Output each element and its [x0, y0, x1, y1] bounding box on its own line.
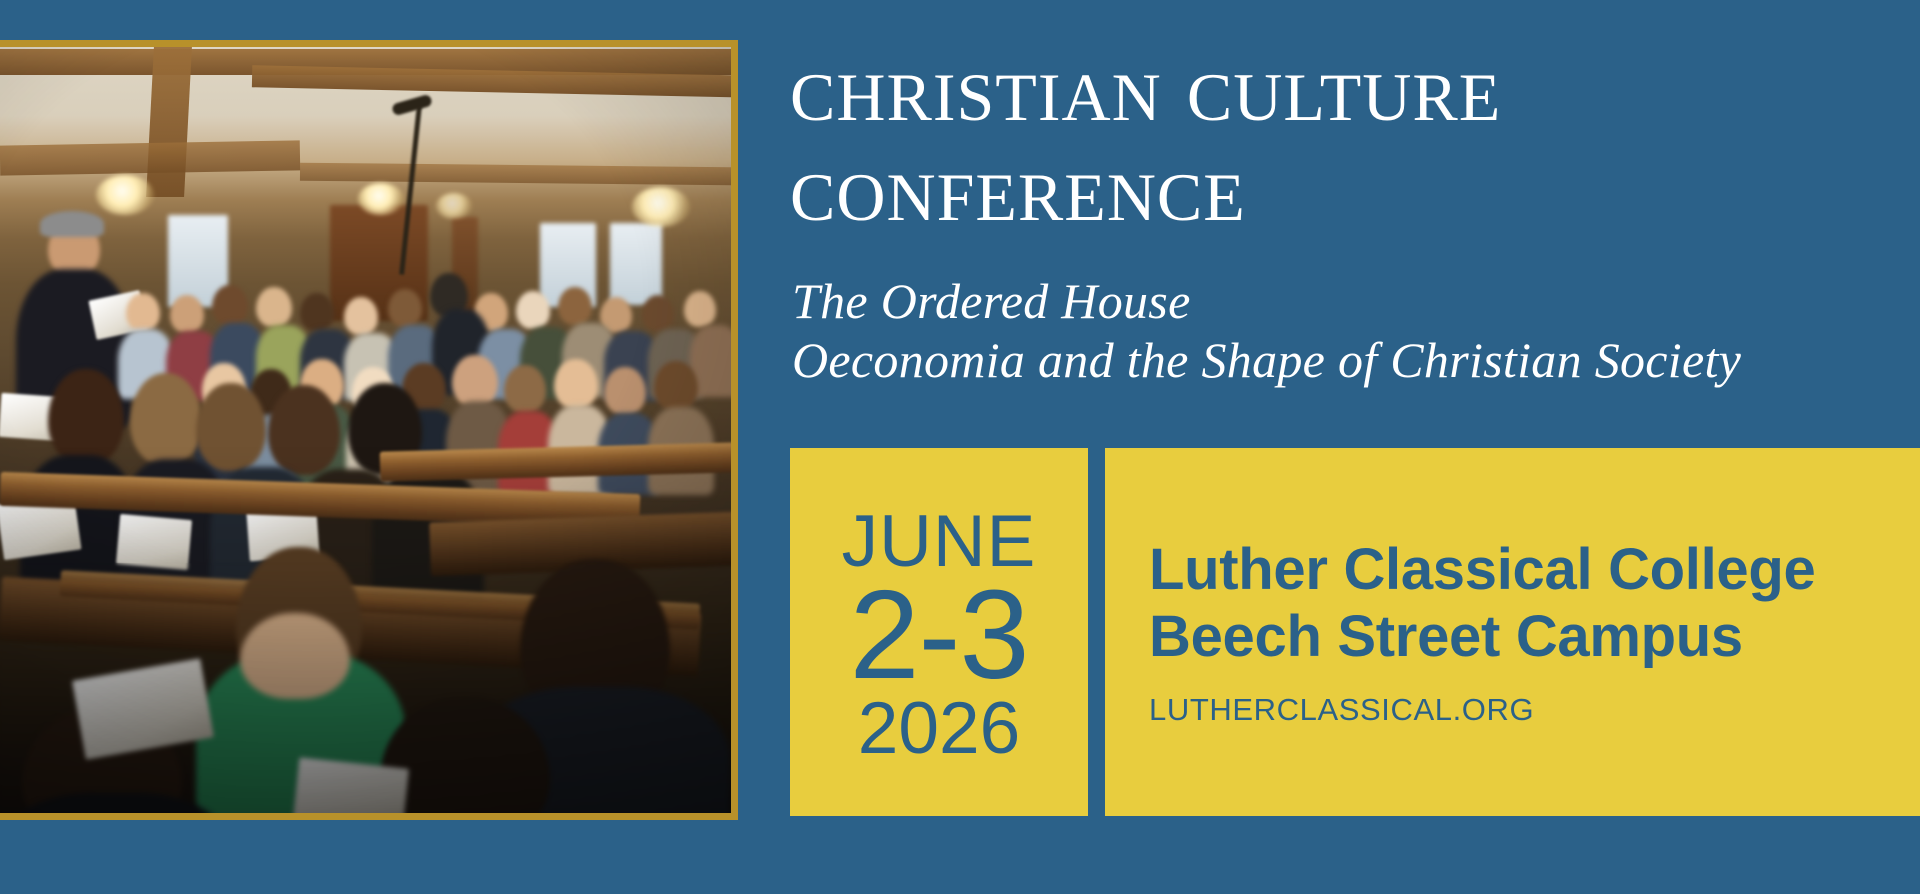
title-line-2: Conference	[790, 138, 1890, 238]
venue-name: Luther Classical College	[1149, 536, 1920, 603]
venue-campus: Beech Street Campus	[1149, 603, 1920, 670]
subtitle-line-1: The Ordered House	[792, 272, 1912, 331]
date-panel: JUNE 2-3 2026	[790, 448, 1088, 816]
info-panels: JUNE 2-3 2026 Luther Classical College B…	[790, 448, 1920, 816]
page-title: Christian Culture Conference	[790, 38, 1890, 238]
date-year: 2026	[858, 692, 1020, 765]
subtitle: The Ordered House Oeconomia and the Shap…	[792, 272, 1912, 390]
photo-frame	[0, 40, 738, 820]
congregation-photo	[0, 47, 731, 813]
venue-panel: Luther Classical College Beech Street Ca…	[1105, 448, 1920, 816]
conference-promo-banner: Christian Culture Conference The Ordered…	[0, 0, 1920, 894]
website-url[interactable]: LUTHERCLASSICAL.ORG	[1149, 692, 1920, 728]
subtitle-line-2: Oeconomia and the Shape of Christian Soc…	[792, 331, 1912, 390]
title-line-1: Christian Culture	[790, 38, 1890, 138]
date-days: 2-3	[849, 577, 1028, 693]
content-column: Christian Culture Conference The Ordered…	[790, 0, 1920, 894]
